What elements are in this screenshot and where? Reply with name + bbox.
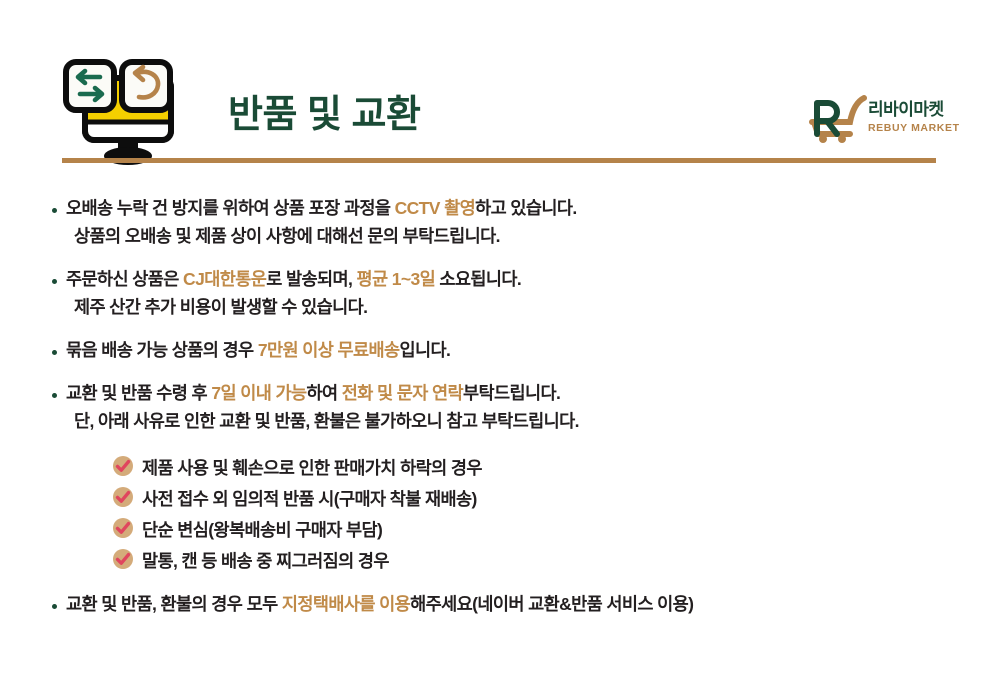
bullet-dot bbox=[52, 350, 57, 355]
exclusion-item-damage-value-drop: 제품 사용 및 훼손으로 인한 판매가치 하락의 경우 bbox=[112, 460, 482, 478]
policy-bullet-cctv-packaging: 오배송 누락 건 방지를 위하여 상품 포장 과정을 CCTV 촬영하고 있습니… bbox=[66, 200, 577, 218]
text-segment: 오배송 누락 건 방지를 위하여 상품 포장 과정을 bbox=[66, 198, 395, 218]
text-segment: 묶음 배송 가능 상품의 경우 bbox=[66, 340, 258, 360]
policy-bullet-free-shipping: 묶음 배송 가능 상품의 경우 7만원 이상 무료배송입니다. bbox=[66, 342, 450, 360]
brand-name-english: REBUY MARKET bbox=[868, 122, 966, 135]
check-circle-icon bbox=[112, 548, 134, 570]
text-segment: 입니다. bbox=[399, 340, 450, 360]
highlighted-text: CJ대한통운 bbox=[183, 269, 266, 289]
text-segment: 교환 및 반품, 환불의 경우 모두 bbox=[66, 594, 282, 614]
brand-text: 리바이마켓 REBUY MARKET bbox=[868, 101, 966, 134]
exclusion-label: 제품 사용 및 훼손으로 인한 판매가치 하락의 경우 bbox=[142, 458, 482, 478]
highlighted-text: 7만원 이상 무료배송 bbox=[258, 340, 400, 360]
policy-bullet-cctv-packaging-line2: 상품의 오배송 및 제품 상이 사항에 대해선 문의 부탁드립니다. bbox=[66, 228, 500, 246]
highlighted-text: CCTV 촬영 bbox=[395, 198, 476, 218]
policy-bullet-designated-courier: 교환 및 반품, 환불의 경우 모두 지정택배사를 이용해주세요(네이버 교환&… bbox=[66, 596, 693, 614]
policy-bullet-exchange-window: 교환 및 반품 수령 후 7일 이내 가능하여 전화 및 문자 연락부탁드립니다… bbox=[66, 385, 560, 403]
brand-logo: 리바이마켓 REBUY MARKET bbox=[806, 92, 966, 150]
check-circle-icon bbox=[112, 455, 134, 477]
text-segment: 부탁드립니다. bbox=[463, 383, 560, 403]
policy-bullet-shipping-carrier: 주문하신 상품은 CJ대한통운로 발송되며, 평균 1~3일 소요됩니다. bbox=[66, 271, 521, 289]
exclusion-item-unregistered-return: 사전 접수 외 임의적 반품 시(구매자 착불 재배송) bbox=[112, 491, 477, 509]
text-segment: 하고 있습니다. bbox=[475, 198, 577, 218]
highlighted-text: 전화 및 문자 연락 bbox=[342, 383, 463, 403]
text-segment: 로 발송되며, bbox=[266, 269, 356, 289]
exclusion-item-dented-in-transit: 말통, 캔 등 배송 중 찌그러짐의 경우 bbox=[112, 553, 389, 571]
exclusion-item-change-of-mind: 단순 변심(왕복배송비 구매자 부담) bbox=[112, 522, 382, 540]
header-divider bbox=[62, 158, 936, 163]
page-title: 반품 및 교환 bbox=[228, 96, 420, 134]
text-segment: 교환 및 반품 수령 후 bbox=[66, 383, 211, 403]
text-segment: 해주세요(네이버 교환&반품 서비스 이용) bbox=[410, 594, 693, 614]
bullet-dot bbox=[52, 604, 57, 609]
text-segment: 제주 산간 추가 비용이 발생할 수 있습니다. bbox=[74, 297, 367, 317]
policy-bullet-exchange-window-line2: 단, 아래 사유로 인한 교환 및 반품, 환불은 불가하오니 참고 부탁드립니… bbox=[66, 413, 579, 431]
bullet-dot bbox=[52, 393, 57, 398]
highlighted-text: 지정택배사를 이용 bbox=[282, 594, 410, 614]
policy-bullet-shipping-carrier-line2: 제주 산간 추가 비용이 발생할 수 있습니다. bbox=[66, 299, 367, 317]
page-header: 반품 및 교환 리바이마켓 REBUY MARKET bbox=[0, 0, 1000, 175]
highlighted-text: 평균 1~3일 bbox=[357, 269, 436, 289]
rebuy-cart-r-logo bbox=[806, 92, 868, 144]
bullet-dot bbox=[52, 279, 57, 284]
exclusion-label: 말통, 캔 등 배송 중 찌그러짐의 경우 bbox=[142, 551, 389, 571]
check-circle-icon bbox=[112, 517, 134, 539]
brand-name-korean: 리바이마켓 bbox=[868, 101, 966, 120]
check-circle-icon bbox=[112, 486, 134, 508]
text-segment: 하여 bbox=[306, 383, 341, 403]
text-segment: 단, 아래 사유로 인한 교환 및 반품, 환불은 불가하오니 참고 부탁드립니… bbox=[74, 411, 579, 431]
bullet-dot bbox=[52, 208, 57, 213]
exclusion-label: 사전 접수 외 임의적 반품 시(구매자 착불 재배송) bbox=[142, 489, 477, 509]
text-segment: 소요됩니다. bbox=[435, 269, 521, 289]
monitor-exchange-return-icon bbox=[63, 56, 189, 168]
exclusion-label: 단순 변심(왕복배송비 구매자 부담) bbox=[142, 520, 382, 540]
text-segment: 주문하신 상품은 bbox=[66, 269, 183, 289]
highlighted-text: 7일 이내 가능 bbox=[211, 383, 306, 403]
text-segment: 상품의 오배송 및 제품 상이 사항에 대해선 문의 부탁드립니다. bbox=[74, 226, 500, 246]
